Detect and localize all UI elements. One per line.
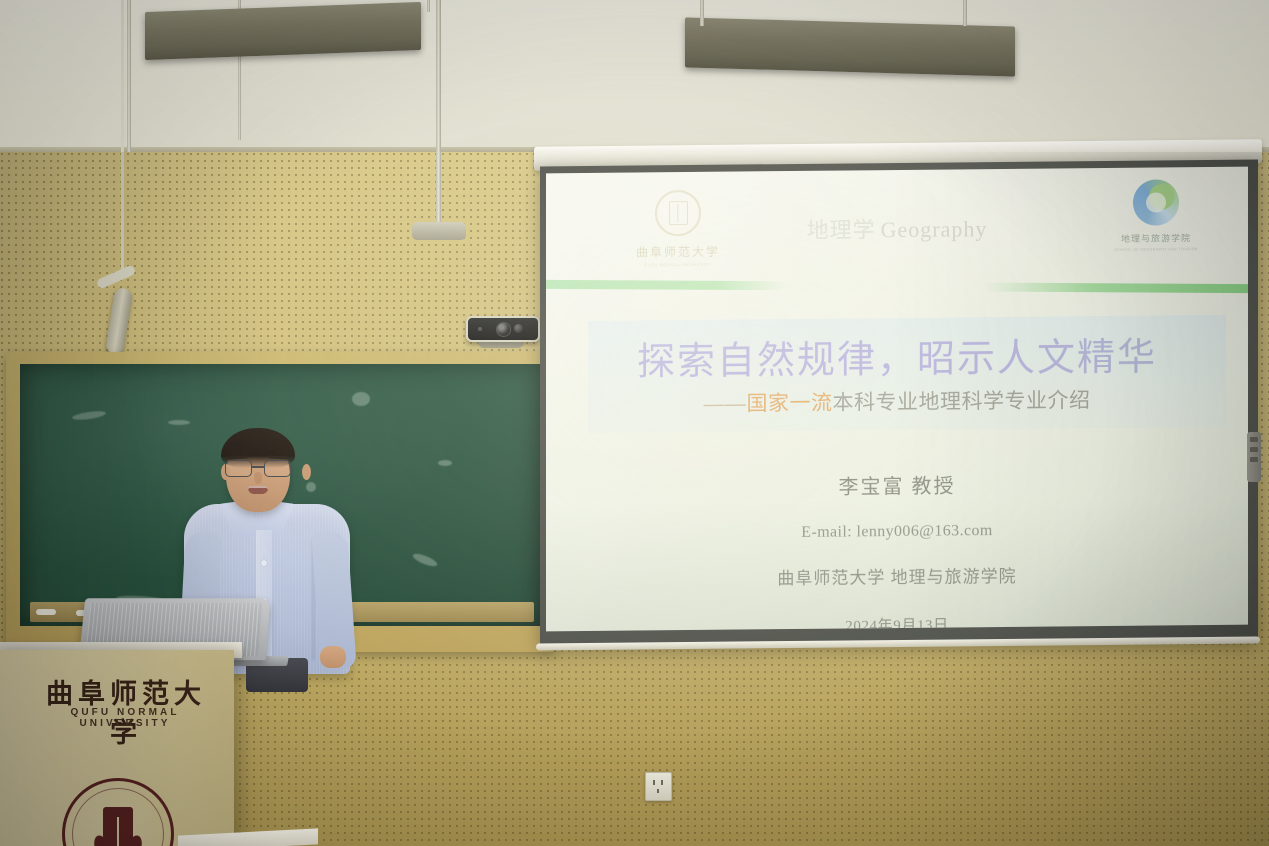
header-center-cn: 地理学 [807, 217, 876, 243]
fixture-rod-1 [127, 0, 131, 152]
camera-sensor-icon [514, 324, 523, 333]
presenter-name: 李宝富 教授 [546, 467, 1248, 503]
power-outlet [645, 772, 672, 801]
fixture-rod-5 [700, 0, 704, 26]
hand-right [320, 646, 346, 668]
presenter-email: E-mail: lenny006@163.com [546, 520, 1248, 545]
lectern-university-name-en: QUFU NORMAL UNIVERSITY [30, 707, 220, 729]
wall-camera [466, 316, 540, 342]
subtitle-rest: 本科专业地理科学专业介绍 [833, 389, 1091, 414]
presenter-affiliation: 曲阜师范大学 地理与旅游学院 [546, 560, 1248, 592]
microphone-cable [121, 0, 124, 276]
shirt-button [261, 560, 267, 566]
ear-right [302, 464, 311, 480]
mouth [248, 486, 268, 494]
header-center-en: Geography [881, 216, 988, 242]
slide-header: 曲阜师范大学 QUFU NORMAL UNIVERSITY 地理学Geograp… [546, 167, 1248, 292]
camera-led-icon [478, 327, 482, 331]
nose [254, 472, 262, 484]
slide-byline-block: 李宝富 教授 E-mail: lenny006@163.com 曲阜师范大学 地… [546, 467, 1248, 632]
ceiling-light-fixture-right [685, 17, 1015, 76]
projector-screen: 曲阜师范大学 QUFU NORMAL UNIVERSITY 地理学Geograp… [546, 167, 1248, 632]
ceiling-camera-puck [412, 222, 466, 240]
fixture-rod-4 [427, 0, 430, 12]
subtitle-highlight: 国家一流 [747, 392, 833, 416]
lecture-hall-photo: JK-160 曲阜师范大学 QUFU NORMAL UNIVERSITY 地理学… [0, 0, 1269, 846]
slide-title: 探索自然规律，昭示人文精华 [546, 325, 1248, 387]
school-logo-en: SCHOOL OF GEOGRAPHY AND TOURISM [1108, 247, 1204, 252]
screen-control-box[interactable] [1247, 432, 1261, 482]
fixture-rod-6 [963, 0, 967, 26]
presentation-slide: 曲阜师范大学 QUFU NORMAL UNIVERSITY 地理学Geograp… [546, 167, 1248, 632]
globe-swirl-icon [1133, 179, 1179, 225]
ceiling-light-fixture-left [145, 2, 421, 60]
university-logo-en: QUFU NORMAL UNIVERSITY [632, 262, 724, 268]
camera-lens-icon [496, 322, 511, 337]
fixture-rod-3 [436, 0, 441, 232]
school-logo-right: 地理与旅游学院 SCHOOL OF GEOGRAPHY AND TOURISM [1108, 179, 1204, 252]
school-logo-cn: 地理与旅游学院 [1108, 231, 1204, 245]
subtitle-dash: —— [704, 392, 747, 415]
